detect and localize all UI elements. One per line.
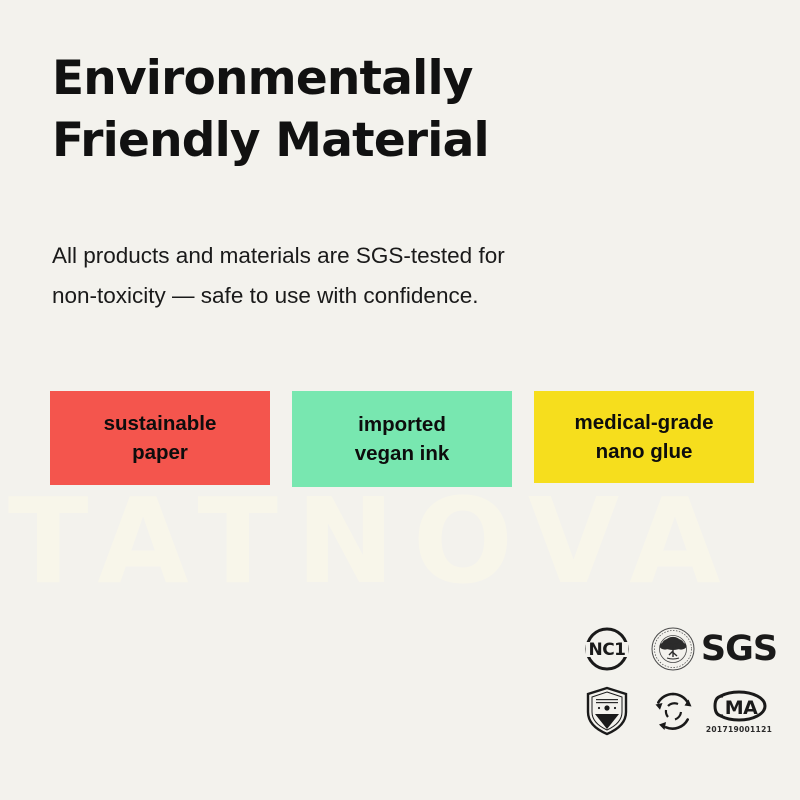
certification-logo-row-top: NC1 <box>574 618 780 680</box>
nc1-certification-icon: NC1 <box>574 618 640 680</box>
page-title: Environmentally Friendly Material <box>52 48 692 172</box>
material-badge-medical-grade-nano-glue: medical-grade nano glue <box>534 391 754 483</box>
material-badge-row: sustainable paper imported vegan ink med… <box>50 391 754 487</box>
cma-certification-icon: MA 201719001121 <box>706 680 772 742</box>
recycling-symbol-icon <box>640 680 706 742</box>
material-badge-label-line-1: imported <box>358 410 446 439</box>
certification-logo-group: NC1 <box>574 618 780 746</box>
material-badge-label-line-1: sustainable <box>104 409 217 438</box>
page-subtitle: All products and materials are SGS-teste… <box>52 236 672 316</box>
cma-certification-number: 201719001121 <box>706 725 772 734</box>
material-badge-sustainable-paper: sustainable paper <box>50 391 270 485</box>
page-title-line-1: Environmentally <box>52 48 692 110</box>
brand-watermark: TATNOVA <box>8 482 798 600</box>
svg-text:MA: MA <box>725 697 758 719</box>
promotional-material-page: TATNOVA Environmentally Friendly Materia… <box>0 0 800 800</box>
forest-tree-seal-icon <box>640 618 706 680</box>
shield-quality-icon <box>574 680 640 742</box>
page-title-line-2: Friendly Material <box>52 110 692 172</box>
material-badge-label-line-1: medical-grade <box>575 408 714 437</box>
material-badge-label-line-2: vegan ink <box>355 439 450 468</box>
sgs-label: SGS <box>701 632 777 667</box>
material-badge-label-line-2: nano glue <box>596 437 693 466</box>
material-badge-label-line-2: paper <box>132 438 188 467</box>
page-subtitle-line-1: All products and materials are SGS-teste… <box>52 236 672 276</box>
material-badge-imported-vegan-ink: imported vegan ink <box>292 391 512 487</box>
svg-text:NC1: NC1 <box>588 640 625 660</box>
page-subtitle-line-2: non-toxicity — safe to use with confiden… <box>52 276 672 316</box>
certification-logo-row-bottom: MA 201719001121 <box>574 680 780 746</box>
sgs-certification-icon: SGS <box>706 618 772 680</box>
